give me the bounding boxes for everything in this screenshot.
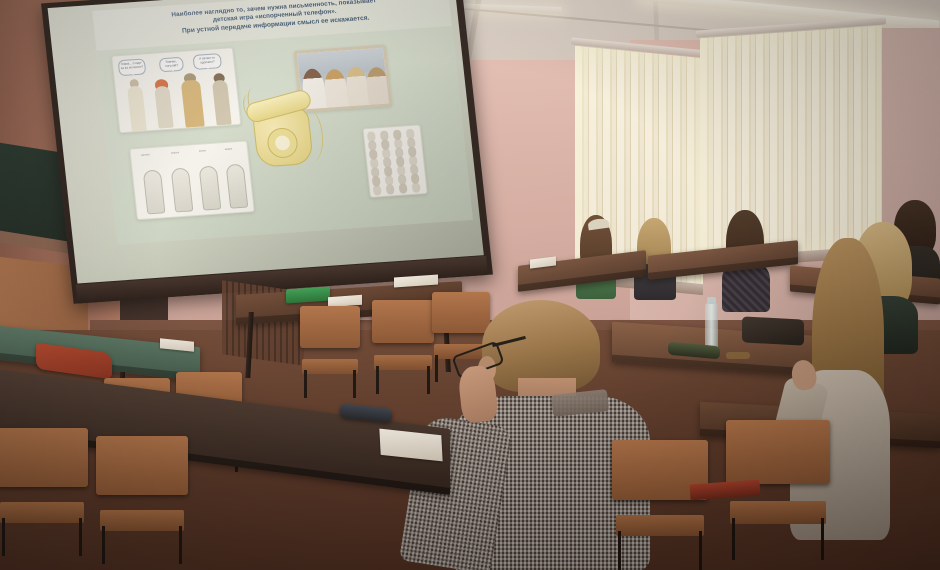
figure-body	[154, 86, 174, 129]
sketch-figure	[226, 164, 249, 209]
chair-legs	[2, 518, 83, 556]
figure-body	[212, 80, 232, 126]
photo-person	[323, 68, 349, 107]
slide-panel-glyph-grid	[362, 124, 427, 198]
chair-middle-2[interactable]	[372, 300, 434, 394]
sketch-label: пироги	[171, 151, 179, 155]
glyph-grid	[367, 129, 424, 194]
sketch-label: жирок	[225, 147, 233, 150]
classroom-photo: Наиболее наглядно то, зачем нужна письме…	[0, 0, 940, 570]
slide-panel-sketch: молоко пироги котлы жирок	[129, 140, 255, 220]
screen-surface: Наиболее наглядно то, зачем нужна письме…	[48, 0, 484, 283]
comic-figure	[149, 78, 178, 129]
presentation-slide: Наиболее наглядно то, зачем нужна письме…	[92, 0, 473, 245]
sketch-figure	[143, 169, 166, 214]
figure-body	[180, 80, 204, 128]
glyph-cell	[399, 183, 408, 193]
glyph-cell	[373, 185, 382, 195]
sketch-figure	[199, 166, 222, 211]
chair-foreground-mid[interactable]	[96, 436, 188, 564]
chair-back	[0, 428, 88, 487]
speech-bubble: Вовчик, погуляй?	[159, 57, 184, 73]
comic-figure	[176, 72, 207, 127]
chair-legs	[304, 370, 357, 398]
chair-back	[300, 306, 360, 348]
glyph-cell	[386, 184, 395, 194]
figure-body	[127, 86, 147, 133]
chair-legs	[102, 526, 183, 564]
sketch-label: котлы	[199, 149, 206, 152]
projection-screen: Наиболее наглядно то, зачем нужна письме…	[41, 0, 493, 304]
glyph-cell	[412, 182, 421, 192]
chair-middle-1[interactable]	[300, 306, 360, 398]
water-bottle	[705, 303, 718, 351]
bottle-cap	[707, 297, 716, 304]
chair-back	[726, 420, 830, 484]
speech-bubble: Мама... сходи-ка за молоком?	[118, 58, 147, 76]
comic-figure	[123, 78, 151, 131]
chair-legs	[618, 531, 702, 570]
comic-figure	[207, 72, 237, 125]
chair-foreground-left[interactable]	[0, 428, 88, 556]
chair-foreground-right[interactable]	[612, 440, 708, 570]
sketch-figure	[171, 168, 194, 213]
chair-back	[96, 436, 188, 495]
keys	[726, 352, 750, 359]
slide-body: Мама... сходи-ка за молоком? Вовчик, пог…	[96, 26, 472, 245]
slide-telephone-illustration	[239, 63, 328, 174]
speech-bubble: А зачем-то одолжил?	[192, 53, 222, 70]
photo-person	[365, 67, 391, 105]
sketch-label: молоко	[141, 153, 150, 157]
chair-legs	[732, 518, 824, 560]
slide-panel-comic: Мама... сходи-ка за молоком? Вовчик, пог…	[111, 47, 241, 133]
chair-legs	[376, 366, 431, 394]
chair-back	[372, 300, 434, 343]
